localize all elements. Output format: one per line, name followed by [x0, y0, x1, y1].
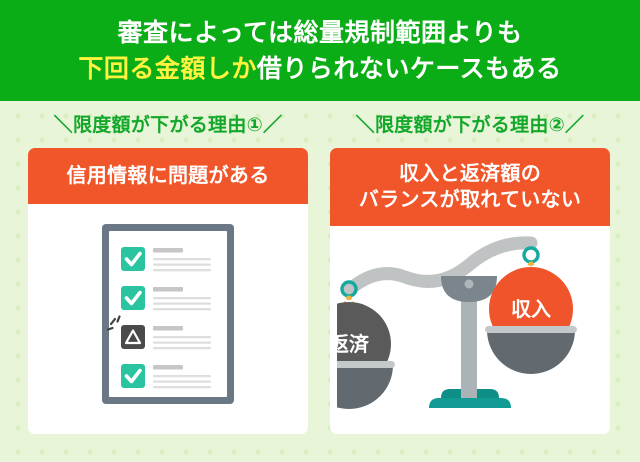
scale-pivot-dot-icon — [465, 280, 474, 289]
reason-card-2-body: 返済 収入 — [330, 226, 610, 434]
row-text-line-1b — [153, 264, 211, 266]
row-text-line-4c — [153, 386, 211, 388]
checkbox-checked-icon-2 — [121, 286, 145, 310]
reason-card-1-title: 信用情報に問題がある — [67, 163, 270, 189]
row-heading-bar-1 — [153, 248, 183, 253]
balance-scale-illustration: 返済 収入 — [337, 232, 603, 433]
row-text-line-4b — [153, 381, 211, 383]
row-text-line-2b — [153, 303, 211, 305]
row-text-line-3c — [153, 347, 211, 349]
scale-post-icon — [461, 294, 477, 398]
checklist-document-illustration — [78, 216, 258, 421]
checkbox-checked-icon-1 — [121, 247, 145, 271]
reason-card-2-header: 収入と返済額のバランスが取れていない — [330, 148, 610, 226]
reason-label-1: ＼限度額が下がる理由①／ — [28, 108, 308, 138]
weight-label-right: 収入 — [511, 298, 551, 321]
reason-card-2: 収入と返済額のバランスが取れていない — [330, 148, 610, 434]
row-text-line-3a — [153, 336, 211, 338]
row-text-line-2c — [153, 308, 211, 310]
scale-pan-left-rim-icon — [337, 361, 395, 368]
reason-card-2-title-line-2: バランスが取れていない — [359, 189, 581, 211]
scale-pan-left-icon — [337, 365, 393, 409]
scale-pan-right-rim-icon — [485, 326, 577, 333]
reason-card-2-title-line-1: 収入と返済額の — [399, 163, 541, 185]
reason-label-2: ＼限度額が下がる理由②／ — [330, 108, 610, 138]
banner-title-line-2: 下回る金額しか借りられないケースもある — [78, 52, 561, 88]
reason-card-1-header: 信用情報に問題がある — [28, 148, 308, 204]
row-text-line-1c — [153, 269, 211, 271]
banner-title-line-1: 審査によっては総量規制範囲よりも — [117, 16, 522, 52]
reason-card-1-body — [28, 204, 308, 434]
row-heading-bar-4 — [153, 365, 183, 370]
checkbox-checked-icon-4 — [121, 364, 145, 388]
banner-title-highlight: 下回る金額しか — [78, 55, 257, 83]
warning-triangle-box-icon — [121, 325, 145, 349]
reason-card-1: 信用情報に問題がある — [28, 148, 308, 434]
row-text-line-3b — [153, 342, 211, 344]
weight-label-left: 返済 — [337, 332, 370, 356]
header-banner: 審査によっては総量規制範囲よりも 下回る金額しか借りられないケースもある — [0, 0, 640, 101]
row-text-line-4a — [153, 375, 211, 377]
row-heading-bar-3 — [153, 326, 183, 331]
row-text-line-1a — [153, 258, 211, 260]
scale-base-lower-icon — [429, 398, 511, 408]
reason-card-2-title: 収入と返済額のバランスが取れていない — [359, 161, 581, 214]
scale-ring-right-icon — [524, 248, 538, 262]
scale-pan-right-icon — [487, 330, 575, 374]
infographic-page: 審査によっては総量規制範囲よりも 下回る金額しか借りられないケースもある ＼限度… — [0, 0, 640, 462]
row-text-line-2a — [153, 297, 211, 299]
banner-title-rest: 借りられないケースもある — [257, 55, 562, 83]
row-heading-bar-2 — [153, 287, 183, 292]
